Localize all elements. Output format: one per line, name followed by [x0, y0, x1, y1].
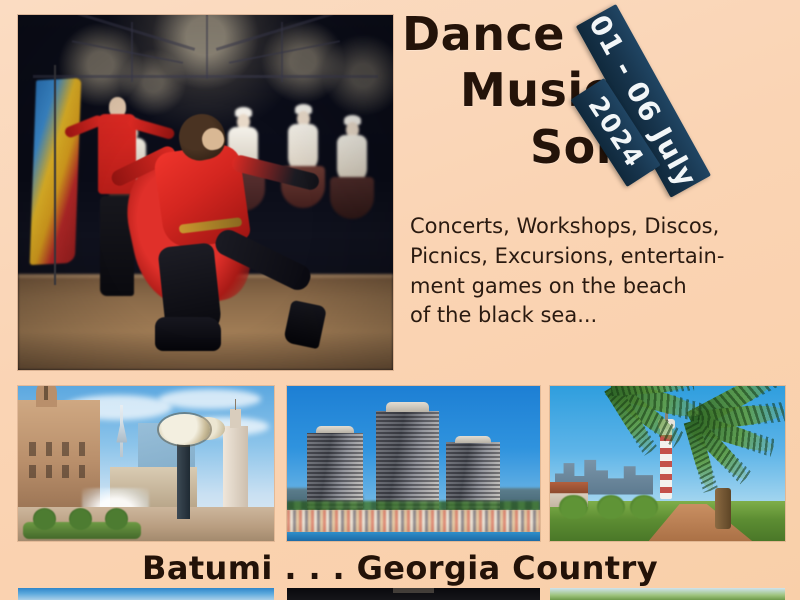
bottom-strip-photo-3 — [550, 588, 785, 600]
description-line-3: ment games on the beach — [410, 272, 780, 302]
clock-face — [159, 414, 210, 445]
bottom-strip-photo-1 — [18, 588, 274, 600]
medea-column — [223, 426, 249, 507]
beach-crowd — [287, 510, 540, 532]
bottom-strip-photo-2 — [287, 588, 540, 600]
tower — [376, 411, 439, 510]
location-caption: Batumi . . . Georgia Country — [0, 549, 800, 587]
description-line-1: Concerts, Workshops, Discos, — [410, 212, 780, 242]
bush — [630, 495, 658, 520]
description-line-4: of the black sea... — [410, 301, 780, 331]
description-text: Concerts, Workshops, Discos, Picnics, Ex… — [410, 212, 780, 331]
date-badge: 01 - 06 July 2024 — [598, 0, 800, 194]
palm-trunk — [715, 488, 731, 528]
tower — [307, 433, 363, 511]
thumbnail-beach-towers — [287, 386, 540, 541]
photo-vignette — [18, 15, 393, 370]
bush — [559, 495, 587, 520]
description-line-2: Picnics, Excursions, entertain- — [410, 242, 780, 272]
hero-photo-dancers — [18, 15, 393, 370]
event-poster: Dance Music Song 01 - 06 July 2024 Conce… — [0, 0, 800, 600]
thumbnail-boulevard-palms — [550, 386, 785, 541]
spire — [120, 405, 123, 458]
thumbnail-europe-square — [18, 386, 274, 541]
sea — [287, 532, 540, 541]
